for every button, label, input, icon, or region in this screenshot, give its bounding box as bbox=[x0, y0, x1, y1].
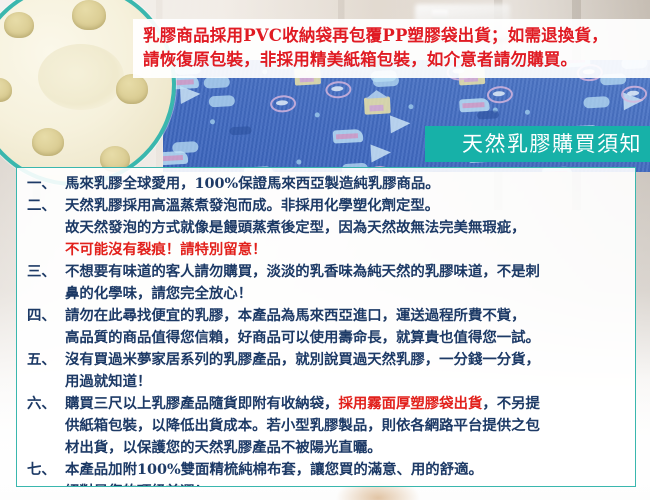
notice-text: 馬來乳膠全球愛用，100%保證馬來西亞製造純乳膠商品。 bbox=[65, 175, 440, 192]
notice-item-marker: 六、 bbox=[27, 393, 65, 415]
section-title-bar: 天然乳膠購買須知 bbox=[425, 126, 650, 162]
mattress-motif bbox=[486, 86, 513, 104]
mattress-motif bbox=[210, 119, 215, 124]
mattress-motif bbox=[314, 113, 319, 118]
latex-swirl-detail bbox=[38, 44, 124, 110]
notice-item-marker: 五、 bbox=[27, 349, 65, 371]
mattress-motif bbox=[296, 160, 301, 165]
notice-item: 二、天然乳膠採用高溫蒸煮發泡而成。非採用化學塑化劑定型。故天然發泡的方式就像是饅… bbox=[27, 195, 627, 261]
notice-text: 高品質的商品值得您信賴，好商品可以使用壽命長，就算貴也值得您一試。 bbox=[65, 329, 540, 346]
notice-item: 六、購買三尺以上乳膠產品隨貨即附有收納袋，採用霧面厚塑膠袋出貨，不另提供紙箱包裝… bbox=[27, 393, 627, 459]
notice-item-marker: 一、 bbox=[27, 173, 65, 195]
notice-list-panel: 一、馬來乳膠全球愛用，100%保證馬來西亞製造純乳膠商品。二、天然乳膠採用高溫蒸… bbox=[16, 167, 636, 487]
mattress-motif bbox=[208, 95, 235, 107]
latex-hole bbox=[72, 0, 106, 30]
product-notice-graphic: 乳膠商品採用PVC收納袋再包覆PP塑膠袋出貨；如需退換貨， 請恢復原包裝，非採用… bbox=[0, 0, 650, 500]
notice-item-body: 天然乳膠採用高溫蒸煮發泡而成。非採用化學塑化劑定型。故天然發泡的方式就像是饅頭蒸… bbox=[65, 195, 627, 261]
notice-text: 請勿在此尋找便宜的乳膠，本產品為馬來西亞進口，運送過程所費不貲， bbox=[65, 307, 526, 324]
notice-item-line: 材出貨，以保護您的天然乳膠產品不被陽光直曬。 bbox=[65, 437, 627, 459]
notice-item-line: 故天然發泡的方式就像是饅頭蒸煮後定型，因為天然故無法完美無瑕疵， bbox=[65, 217, 627, 239]
notice-item-body: 馬來乳膠全球愛用，100%保證馬來西亞製造純乳膠商品。 bbox=[65, 173, 627, 195]
notice-highlight-text: 採用霧面厚塑膠袋出貨 bbox=[338, 395, 482, 412]
notice-item-line: 本產品加附100%雙面精梳純棉布套，讓您買的滿意、用的舒適。 bbox=[65, 459, 627, 481]
notice-item-body: 購買三尺以上乳膠產品隨貨即附有收納袋，採用霧面厚塑膠袋出貨，不另提供紙箱包裝，以… bbox=[65, 393, 627, 459]
notice-item-line: 不想要有味道的客人請勿購買，淡淡的乳香味為純天然的乳膠味道，不是刺 bbox=[65, 261, 627, 283]
banner-line: 請恢復原包裝，非採用精美紙箱包裝，如介意者請勿購買。 bbox=[143, 48, 644, 72]
notice-item-line: 沒有買過米夢家居系列的乳膠產品，就別說買過天然乳膠，一分錢一分貨， bbox=[65, 349, 627, 371]
notice-text: ，不另提 bbox=[482, 395, 540, 412]
notice-item-marker: 四、 bbox=[27, 305, 65, 327]
notice-text: 故天然發泡的方式就像是饅頭蒸煮後定型，因為天然故無法完美無瑕疵， bbox=[65, 219, 526, 236]
mattress-motif bbox=[230, 126, 252, 135]
notice-item: 四、請勿在此尋找便宜的乳膠，本產品為馬來西亞進口，運送過程所費不貲，高品質的商品… bbox=[27, 305, 627, 349]
notice-text: 絕對是您的頂級首選！ bbox=[65, 483, 209, 487]
notice-item-line: 供紙箱包裝，以降低出貨成本。若小型乳膠製品，則依各網路平台提供之包 bbox=[65, 415, 627, 437]
notice-text: 沒有買過米夢家居系列的乳膠產品，就別說買過天然乳膠，一分錢一分貨， bbox=[65, 351, 540, 368]
notice-item-line: 鼻的化學味，請您完全放心！ bbox=[65, 283, 627, 305]
banner-line: 乳膠商品採用PVC收納袋再包覆PP塑膠袋出貨；如需退換貨， bbox=[143, 24, 644, 48]
notice-item-line: 天然乳膠採用高溫蒸煮發泡而成。非採用化學塑化劑定型。 bbox=[65, 195, 627, 217]
notice-item: 七、本產品加附100%雙面精梳純棉布套，讓您買的滿意、用的舒適。絕對是您的頂級首… bbox=[27, 459, 627, 487]
notice-text: 不想要有味道的客人請勿購買，淡淡的乳香味為純天然的乳膠味道，不是刺 bbox=[65, 263, 540, 280]
notice-text: 購買三尺以上乳膠產品隨貨即附有收納袋， bbox=[65, 395, 338, 412]
mattress-motif bbox=[333, 129, 364, 144]
mattress-motif bbox=[204, 76, 231, 88]
mattress-motif bbox=[525, 110, 530, 115]
notice-text: 本產品加附100%雙面精梳純棉布套，讓您買的滿意、用的舒適。 bbox=[65, 461, 483, 478]
notice-item-line: 絕對是您的頂級首選！ bbox=[65, 481, 627, 487]
notice-item-line: 用過就知道！ bbox=[65, 371, 627, 393]
mattress-motif bbox=[459, 97, 490, 112]
notice-item-body: 沒有買過米夢家居系列的乳膠產品，就別說買過天然乳膠，一分錢一分貨，用過就知道！ bbox=[65, 349, 627, 393]
mattress-motif bbox=[364, 96, 391, 114]
notice-item-marker: 二、 bbox=[27, 195, 65, 217]
notice-item-line: 請勿在此尋找便宜的乳膠，本產品為馬來西亞進口，運送過程所費不貲， bbox=[65, 305, 627, 327]
notice-item-line: 不可能沒有裂痕！請特別留意！ bbox=[65, 239, 627, 261]
latex-hole bbox=[116, 74, 148, 104]
notice-item-body: 不想要有味道的客人請勿購買，淡淡的乳香味為純天然的乳膠味道，不是刺鼻的化學味，請… bbox=[65, 261, 627, 305]
notice-highlight-text: 不可能沒有裂痕！請特別留意！ bbox=[65, 241, 266, 258]
latex-hole bbox=[4, 12, 34, 38]
mattress-motif bbox=[409, 104, 414, 109]
mattress-motif bbox=[270, 95, 297, 113]
notice-item-marker: 七、 bbox=[27, 459, 65, 481]
notice-text: 鼻的化學味，請您完全放心！ bbox=[65, 285, 252, 302]
notice-item-marker: 三、 bbox=[27, 261, 65, 283]
latex-hole bbox=[0, 78, 12, 102]
notice-text: 天然乳膠採用高溫蒸煮發泡而成。非採用化學塑化劑定型。 bbox=[65, 197, 439, 214]
notice-item-line: 馬來乳膠全球愛用，100%保證馬來西亞製造純乳膠商品。 bbox=[65, 173, 627, 195]
shipping-packaging-banner: 乳膠商品採用PVC收納袋再包覆PP塑膠袋出貨；如需退換貨， 請恢復原包裝，非採用… bbox=[133, 19, 650, 78]
notice-text: 供紙箱包裝，以降低出貨成本。若小型乳膠製品，則依各網路平台提供之包 bbox=[65, 417, 540, 434]
mattress-motif bbox=[325, 81, 352, 99]
notice-item: 一、馬來乳膠全球愛用，100%保證馬來西亞製造純乳膠商品。 bbox=[27, 173, 627, 195]
notice-item: 三、不想要有味道的客人請勿購買，淡淡的乳香味為純天然的乳膠味道，不是刺鼻的化學味… bbox=[27, 261, 627, 305]
notice-item-line: 高品質的商品值得您信賴，好商品可以使用壽命長，就算貴也值得您一試。 bbox=[65, 327, 627, 349]
notice-item: 五、沒有買過米夢家居系列的乳膠產品，就別說買過天然乳膠，一分錢一分貨，用過就知道… bbox=[27, 349, 627, 393]
notice-text: 用過就知道！ bbox=[65, 373, 151, 390]
notice-item-body: 本產品加附100%雙面精梳純棉布套，讓您買的滿意、用的舒適。絕對是您的頂級首選！ bbox=[65, 459, 627, 487]
section-title-text: 天然乳膠購買須知 bbox=[462, 134, 642, 155]
mattress-motif bbox=[583, 96, 610, 108]
notice-item-body: 請勿在此尋找便宜的乳膠，本產品為馬來西亞進口，運送過程所費不貲，高品質的商品值得… bbox=[65, 305, 627, 349]
mattress-motif bbox=[371, 144, 392, 163]
mattress-motif bbox=[390, 114, 411, 133]
mattress-motif bbox=[163, 151, 188, 166]
notice-item-line: 購買三尺以上乳膠產品隨貨即附有收納袋，採用霧面厚塑膠袋出貨，不另提 bbox=[65, 393, 627, 415]
latex-hole bbox=[32, 128, 64, 156]
mattress-motif bbox=[477, 110, 499, 119]
notice-text: 材出貨，以保護您的天然乳膠產品不被陽光直曬。 bbox=[65, 439, 382, 456]
